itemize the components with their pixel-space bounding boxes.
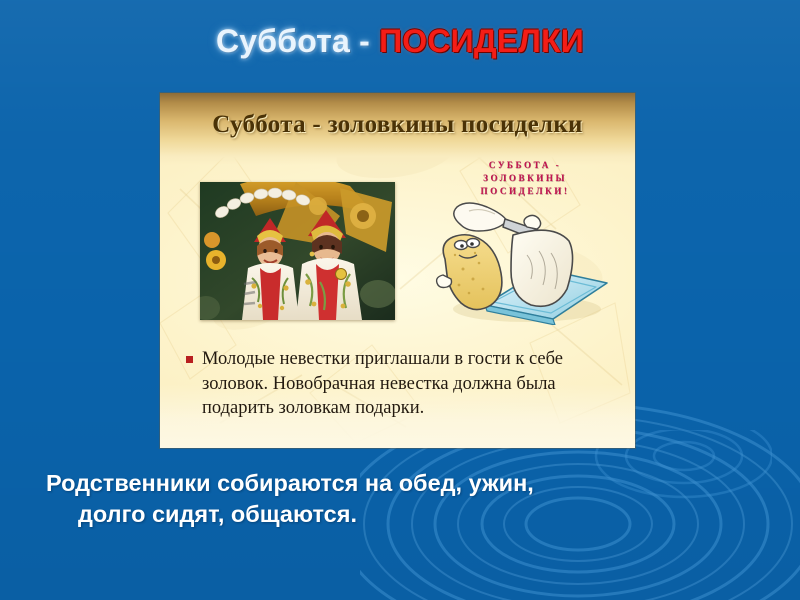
cartoon-caption-line-2: ЗОЛОВКИНЫ — [435, 172, 615, 185]
caption-line-2: долго сидят, общаются. — [36, 499, 766, 530]
embedded-slide-image: Суббота - золовкины посиделки — [160, 93, 635, 448]
presentation-slide: Суббота - ПОСИДЕЛКИ — [0, 0, 800, 600]
blini-plate-illustration-icon — [435, 197, 615, 325]
inner-slide-title: Суббота - золовкины посиделки — [160, 111, 635, 139]
caption-line-1: Родственники собираются на обед, ужин, — [36, 468, 766, 499]
slide-headline: Суббота - ПОСИДЕЛКИ — [0, 24, 800, 59]
cartoon-caption: СУББОТА - ЗОЛОВКИНЫ ПОСИДЕЛКИ! — [435, 159, 615, 198]
bullet-text: Молодые невестки приглашали в гости к се… — [202, 347, 612, 421]
headline-white-text: Суббота - — [216, 23, 379, 59]
square-bullet-icon — [186, 356, 193, 363]
cartoon-caption-line-1: СУББОТА - — [435, 159, 615, 172]
blini-cartoon: СУББОТА - ЗОЛОВКИНЫ ПОСИДЕЛКИ! — [435, 153, 615, 328]
folk-costume-photo — [200, 182, 395, 320]
slide-caption: Родственники собираются на обед, ужин, д… — [36, 468, 766, 531]
headline-red-text: ПОСИДЕЛКИ — [379, 23, 584, 59]
bullet-item: Молодые невестки приглашали в гости к се… — [186, 347, 612, 421]
